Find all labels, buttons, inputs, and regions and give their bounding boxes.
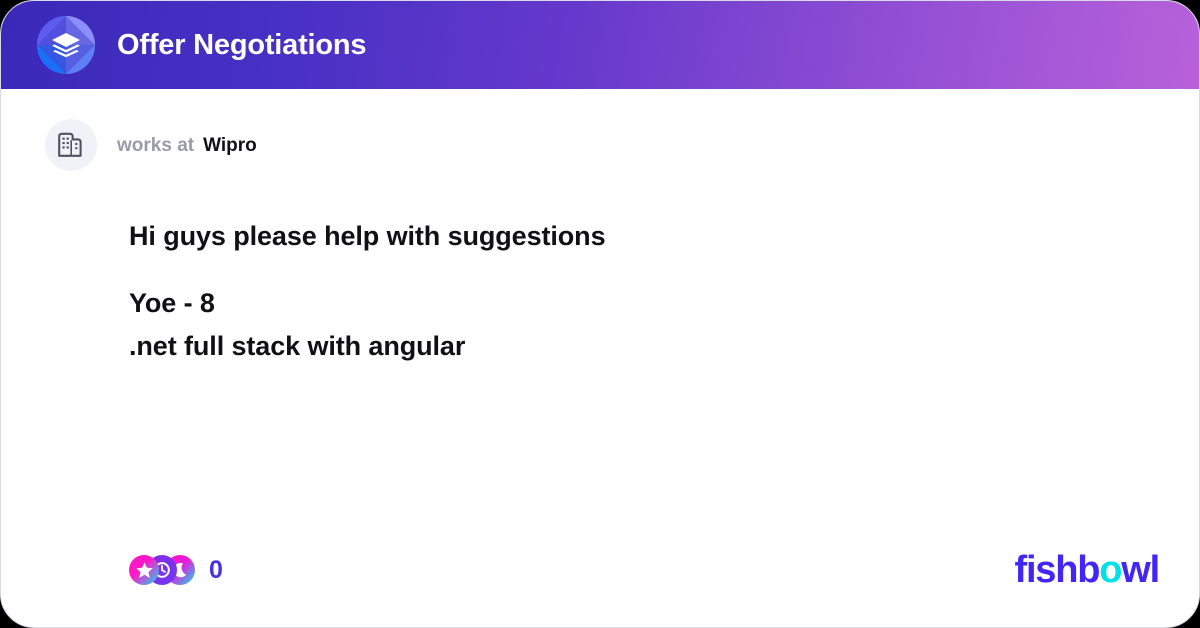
- fishbowl-layers-icon: [37, 16, 95, 74]
- post-blank-line: [129, 258, 1159, 282]
- reactions-group[interactable]: 0: [129, 555, 223, 585]
- bowl-header: Offer Negotiations: [1, 1, 1199, 89]
- bowl-title: Offer Negotiations: [117, 31, 366, 60]
- reaction-count: 0: [209, 558, 223, 583]
- post-text: Hi guys please help with suggestions Yoe…: [129, 215, 1159, 369]
- brand-part-1: fishb: [1014, 551, 1099, 589]
- fishbowl-wordmark: fishbowl: [1014, 551, 1159, 589]
- post-card: Offer Negotiations works at: [0, 0, 1200, 628]
- company-name: Wipro: [203, 135, 257, 156]
- reaction-avatars[interactable]: [129, 555, 183, 585]
- post-line-2: Yoe - 8: [129, 282, 1159, 325]
- post-footer: 0 fishbowl: [41, 547, 1159, 593]
- post-body: works atWipro Hi guys please help with s…: [1, 89, 1199, 627]
- author-row: works atWipro: [45, 89, 1159, 171]
- post-line-3: .net full stack with angular: [129, 325, 1159, 368]
- brand-accent-o: o: [1099, 551, 1121, 589]
- author-works-at: works atWipro: [117, 136, 257, 155]
- office-building-icon: [45, 119, 97, 171]
- works-at-label: works at: [117, 135, 194, 156]
- star-reaction-icon[interactable]: [129, 555, 159, 585]
- brand-part-2: wl: [1121, 551, 1159, 589]
- post-line-1: Hi guys please help with suggestions: [129, 215, 1159, 258]
